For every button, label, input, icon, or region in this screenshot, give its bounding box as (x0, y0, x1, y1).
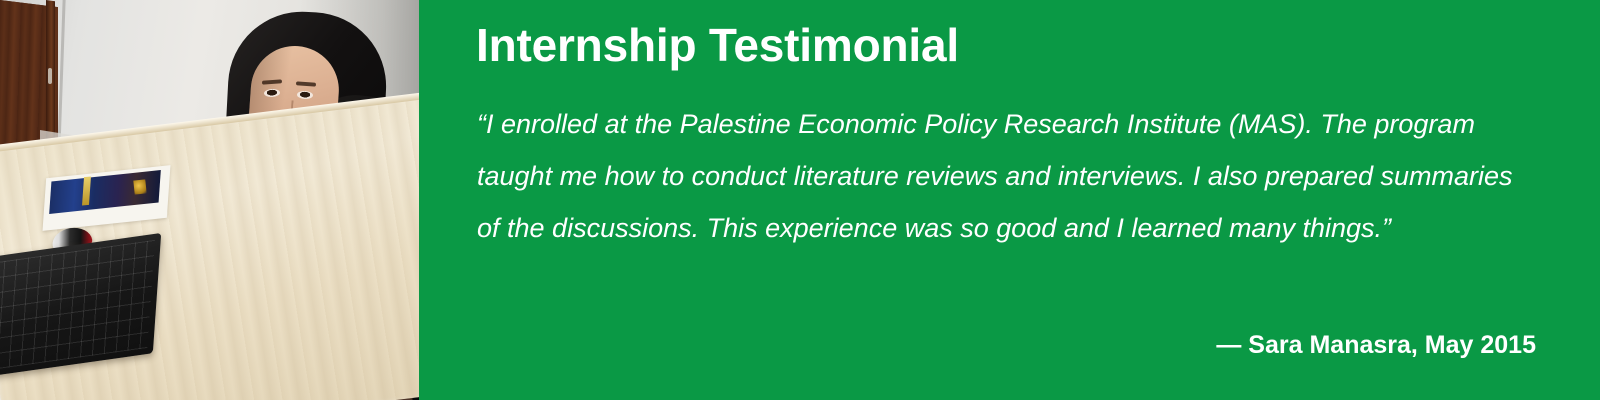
testimonial-banner: Internship Testimonial “I enrolled at th… (0, 0, 1600, 400)
quote-line-1: “I enrolled at the Palestine Economic Po… (477, 98, 1577, 150)
door-latch (48, 68, 52, 84)
quote-line-2: taught me how to conduct literature revi… (477, 150, 1577, 202)
keyboard-keys (0, 240, 155, 374)
testimonial-quote: “I enrolled at the Palestine Economic Po… (477, 98, 1577, 254)
quote-line-3: of the discussions. This experience was … (477, 202, 1577, 254)
quote-attribution: — Sara Manasra, May 2015 (1216, 331, 1536, 360)
brochure-graphic (133, 179, 146, 194)
testimonial-panel: Internship Testimonial “I enrolled at th… (419, 0, 1600, 400)
intern-photo (0, 0, 419, 400)
page-title: Internship Testimonial (476, 18, 959, 72)
